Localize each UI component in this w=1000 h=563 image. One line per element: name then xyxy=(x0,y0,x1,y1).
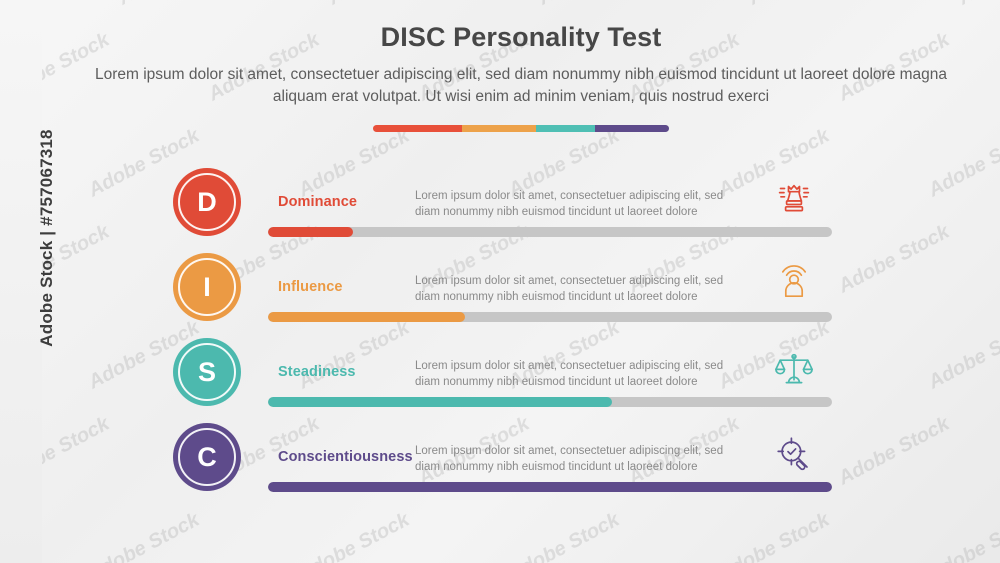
page-title: DISC Personality Test xyxy=(42,22,1000,53)
disc-row-s: SSteadinessLorem ipsum dolor sit amet, c… xyxy=(0,338,1000,423)
header: DISC Personality Test Lorem ipsum dolor … xyxy=(42,22,1000,132)
badge-letter: C xyxy=(197,444,217,471)
badge-circle-c[interactable]: C xyxy=(173,423,241,491)
progress-fill xyxy=(268,482,832,492)
row-description: Lorem ipsum dolor sit amet, consectetuer… xyxy=(415,273,745,305)
divider-segment-1 xyxy=(373,125,462,132)
balance-scales-icon xyxy=(766,344,822,394)
row-label: Steadiness xyxy=(278,364,356,380)
progress-track[interactable] xyxy=(268,312,832,322)
progress-track[interactable] xyxy=(268,227,832,237)
divider-segment-2 xyxy=(462,125,536,132)
row-description: Lorem ipsum dolor sit amet, consectetuer… xyxy=(415,358,745,390)
watermark-label: Adobe Stock | #757067318 xyxy=(37,88,57,388)
divider-segment-3 xyxy=(536,125,595,132)
row-description: Lorem ipsum dolor sit amet, consectetuer… xyxy=(415,188,745,220)
progress-track[interactable] xyxy=(268,482,832,492)
row-label: Influence xyxy=(278,279,343,295)
row-label: Dominance xyxy=(278,194,357,210)
magnifier-target-icon xyxy=(766,429,822,479)
badge-circle-s[interactable]: S xyxy=(173,338,241,406)
chess-king-icon xyxy=(766,174,822,224)
badge-letter: S xyxy=(198,359,216,386)
row-label: Conscientiousness xyxy=(278,449,413,465)
disc-row-d: DDominanceLorem ipsum dolor sit amet, co… xyxy=(0,168,1000,253)
disc-rows-list: DDominanceLorem ipsum dolor sit amet, co… xyxy=(0,168,1000,508)
progress-fill xyxy=(268,227,353,237)
progress-fill xyxy=(268,397,612,407)
badge-circle-i[interactable]: I xyxy=(173,253,241,321)
badge-letter: I xyxy=(203,274,211,301)
divider-segment-4 xyxy=(595,125,669,132)
progress-fill xyxy=(268,312,465,322)
disc-row-i: IInfluenceLorem ipsum dolor sit amet, co… xyxy=(0,253,1000,338)
color-divider-bar xyxy=(373,125,669,132)
badge-circle-d[interactable]: D xyxy=(173,168,241,236)
progress-track[interactable] xyxy=(268,397,832,407)
watermark-sidebar: Adobe Stock | #757067318 xyxy=(0,0,42,563)
row-description: Lorem ipsum dolor sit amet, consectetuer… xyxy=(415,443,745,475)
page-subtitle: Lorem ipsum dolor sit amet, consectetuer… xyxy=(91,64,951,108)
badge-letter: D xyxy=(197,189,217,216)
person-broadcast-icon xyxy=(766,259,822,309)
disc-row-c: CConscientiousnessLorem ipsum dolor sit … xyxy=(0,423,1000,508)
